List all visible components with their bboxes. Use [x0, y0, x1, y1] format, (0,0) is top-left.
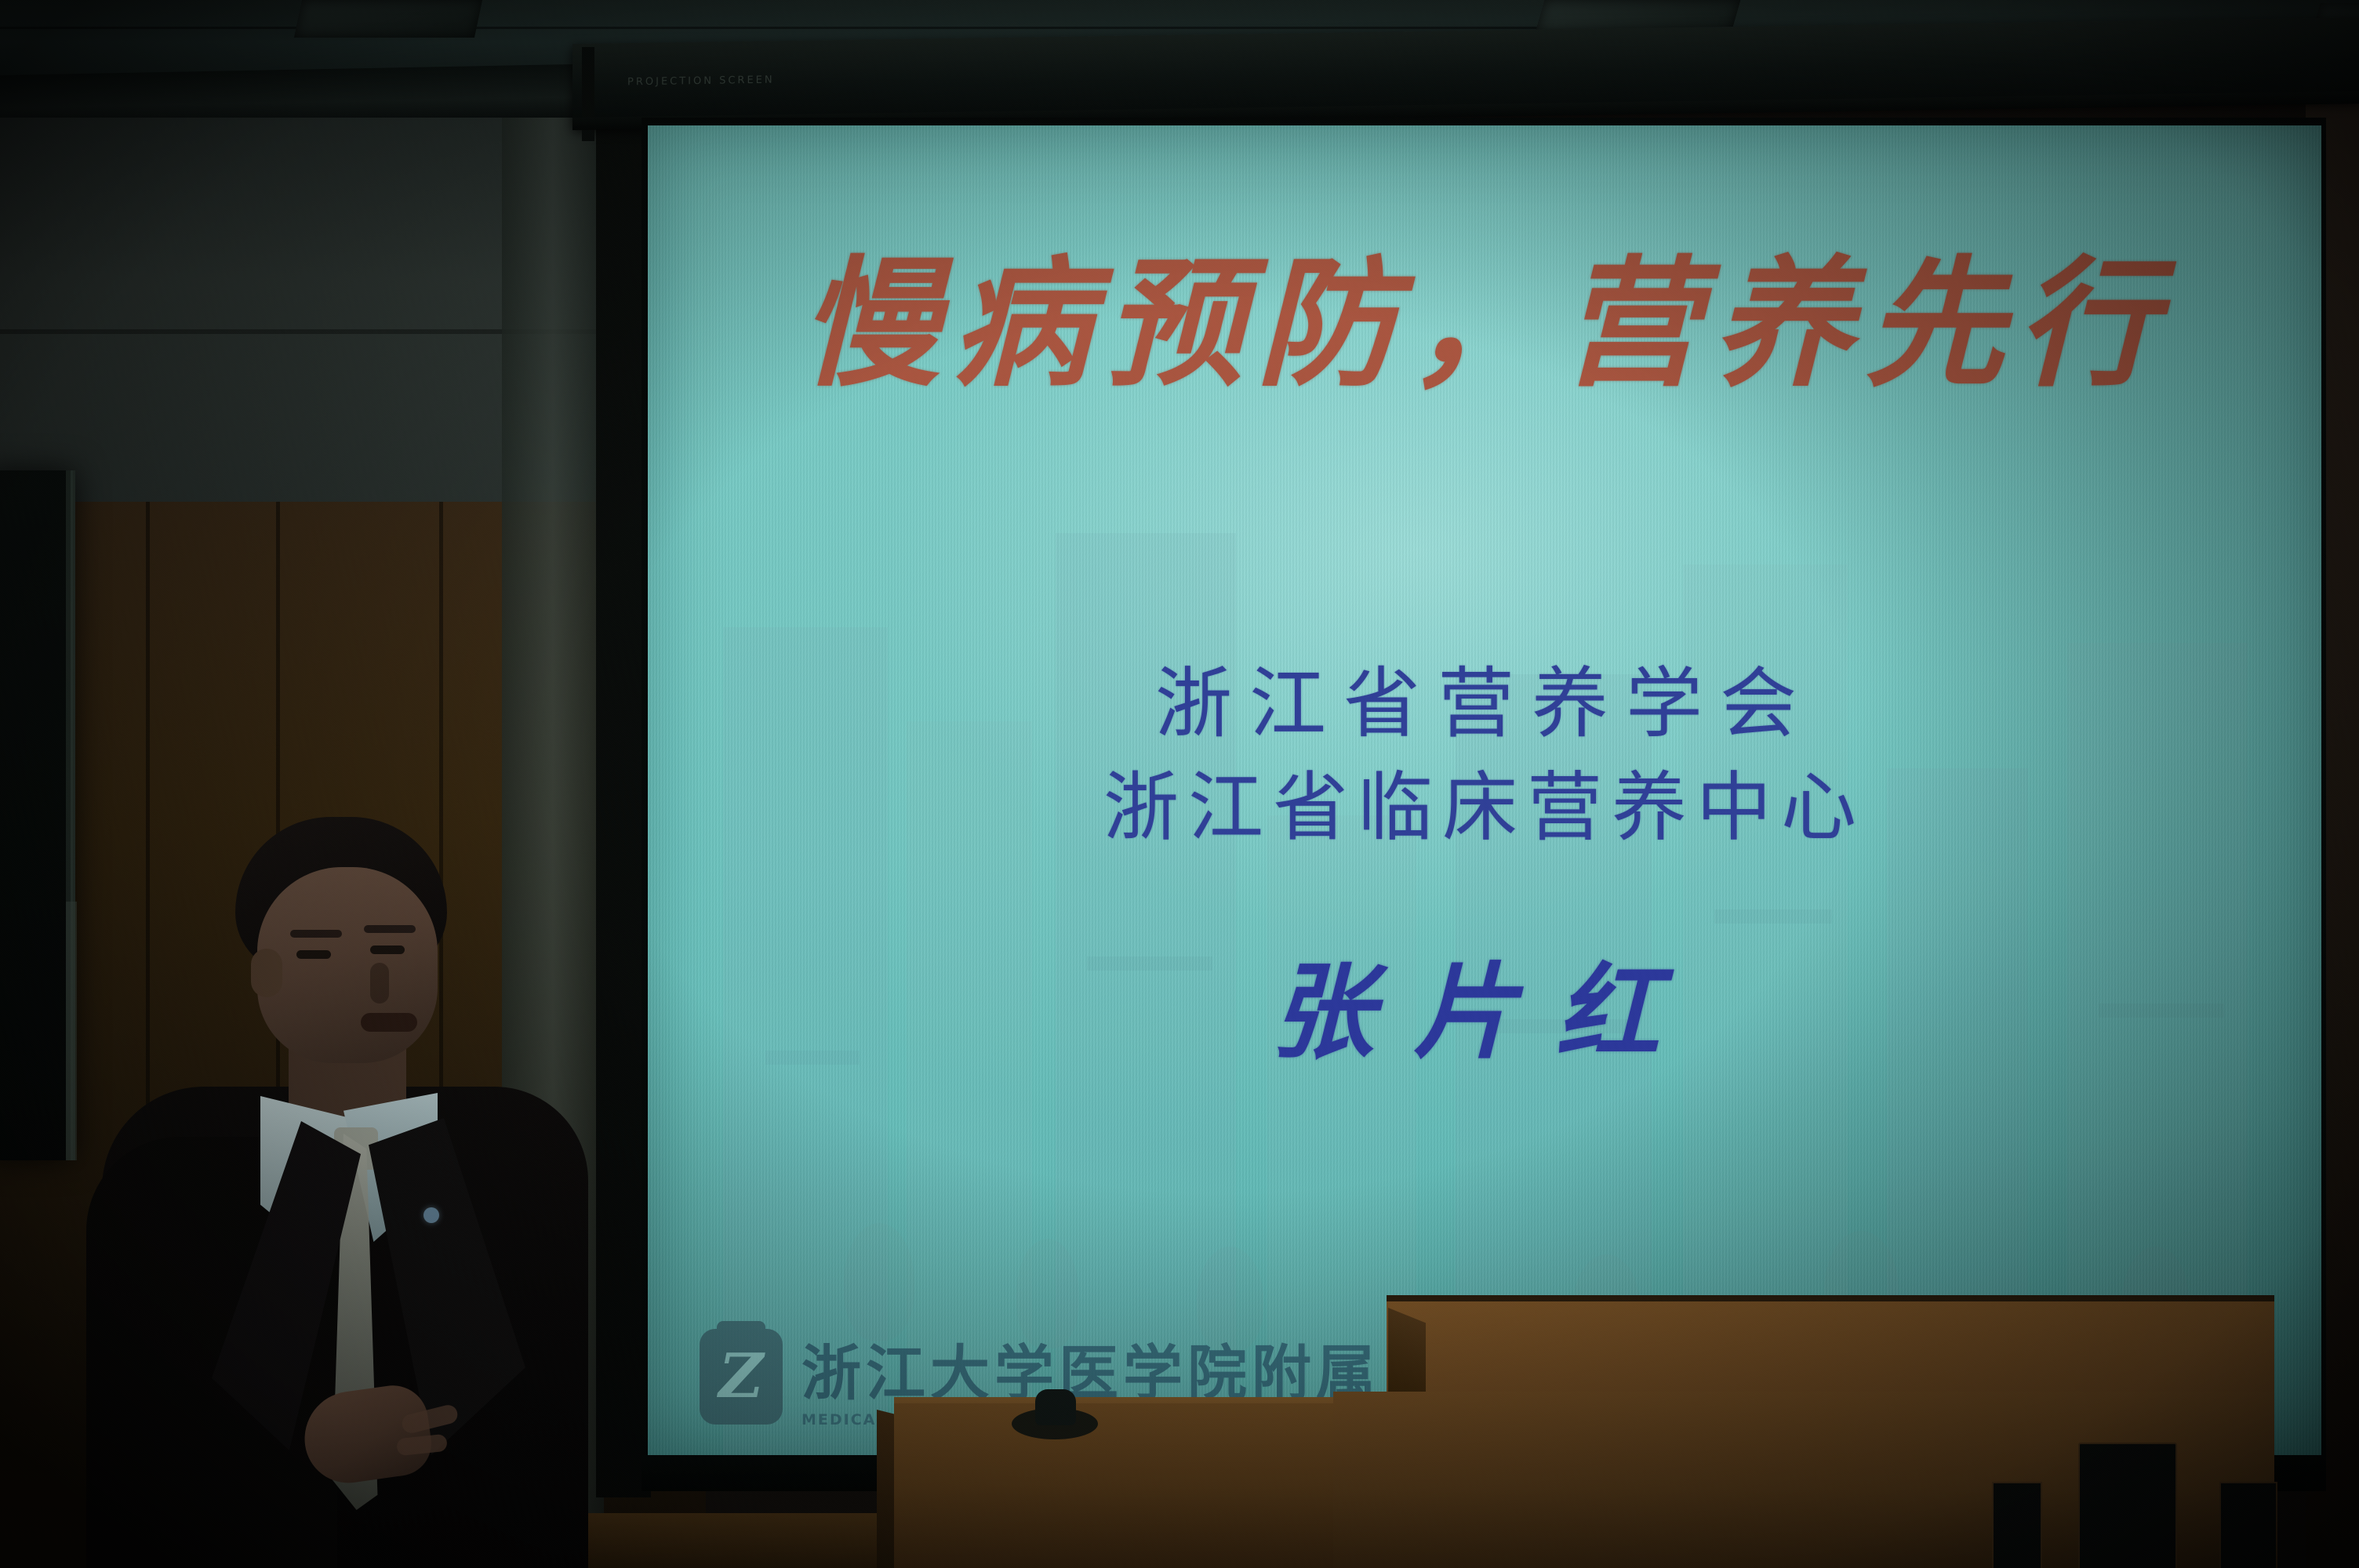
- mouth: [361, 1013, 417, 1032]
- slide-presenter-name: 张片红: [648, 929, 2321, 1079]
- ear: [251, 949, 282, 997]
- lecture-hall-scene: PROJECTION SCREEN 慢病预防，营养先行 浙江省营养学会 浙江省临…: [0, 0, 2359, 1568]
- nose: [370, 963, 389, 1004]
- logo-letter: Z: [719, 1346, 764, 1407]
- eye: [296, 950, 331, 959]
- computer-mouse[interactable]: [1035, 1389, 1076, 1425]
- slide-organization-line-2: 浙江省临床营养中心: [648, 746, 2321, 855]
- slide-title: 慢病预防，营养先行: [648, 251, 2321, 396]
- eyebrow: [364, 925, 416, 933]
- blackboard: [0, 470, 75, 1160]
- screen-brand-label: PROJECTION SCREEN: [627, 74, 775, 89]
- watermark-tree: [844, 1223, 914, 1341]
- presenter-person: [94, 800, 612, 1568]
- blackboard-frame: [66, 902, 77, 1160]
- eye: [370, 946, 405, 954]
- podium-control-panel[interactable]: [2078, 1443, 2177, 1568]
- podium-equipment-slot: [2219, 1482, 2277, 1568]
- podium-equipment-slot: [1992, 1482, 2042, 1568]
- ceiling-recessed-light: [294, 0, 482, 38]
- slide-organization-line-1: 浙江省营养学会: [648, 641, 2321, 753]
- face: [257, 867, 438, 1063]
- eyebrow: [290, 930, 342, 938]
- lapel-pin-icon: [423, 1207, 439, 1223]
- watermark-window: [1714, 909, 1832, 924]
- university-logo-icon: Z: [700, 1329, 783, 1425]
